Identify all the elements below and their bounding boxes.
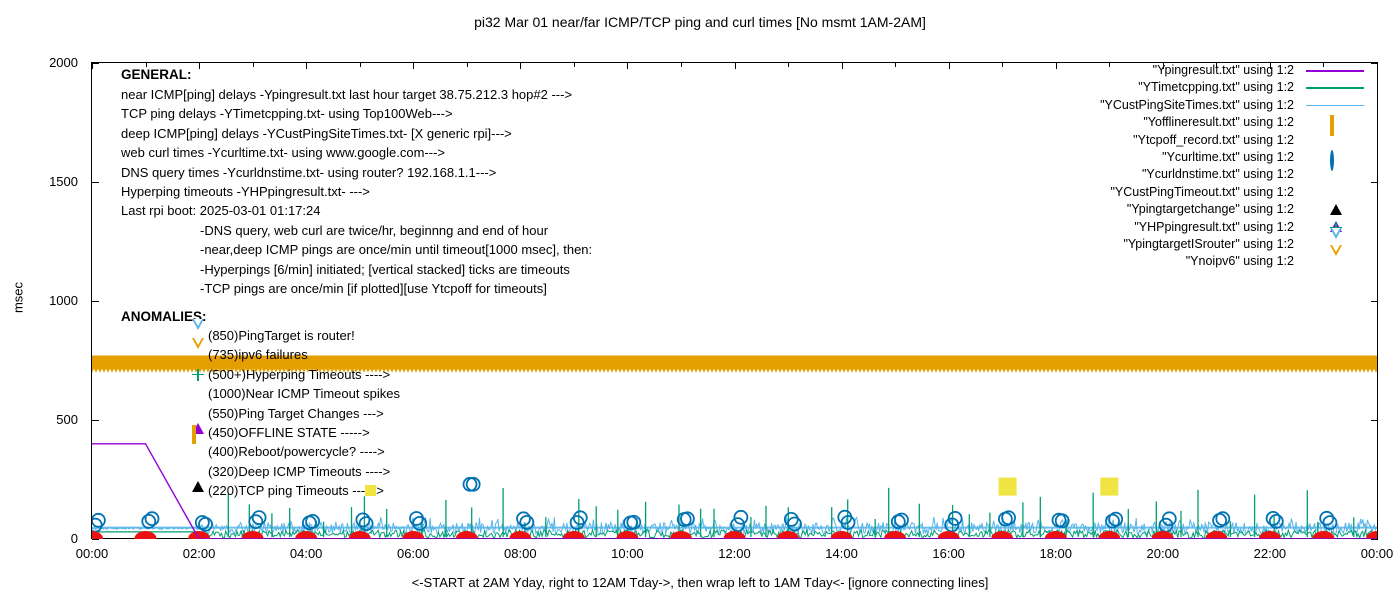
x-axis-caption: <-START at 2AM Yday, right to 12AM Tday-… — [0, 575, 1400, 590]
legend-row: "Ycurltime.txt" using 1:2 — [1000, 149, 1378, 166]
anomaly-label: (400)Reboot/powercycle? ----> — [208, 442, 385, 461]
legend-line-swatch — [1306, 105, 1364, 107]
x-tick-label: 20:00 — [1128, 546, 1198, 561]
anomaly-label: (735)ipv6 failures — [208, 345, 308, 364]
legend-key — [1302, 79, 1368, 96]
legend-label: "Ycurltime.txt" using 1:2 — [1162, 149, 1294, 166]
sq-open-icon — [192, 425, 196, 444]
anomaly-marker — [192, 446, 208, 459]
general-line: Hyperping timeouts -YHPpingresult.txt- -… — [121, 182, 572, 201]
anomaly-marker — [192, 427, 208, 440]
anomaly-label: (1000)Near ICMP Timeout spikes — [208, 384, 400, 403]
legend-key — [1302, 114, 1368, 131]
anomaly-marker — [192, 408, 208, 421]
y-tick-mark — [1371, 539, 1378, 540]
y-tick-label: 500 — [26, 413, 78, 426]
x-tick-label: 16:00 — [914, 546, 984, 561]
legend-row: "Ypingtargetchange" using 1:2 — [1000, 201, 1378, 218]
legend-label: "Ypingresult.txt" using 1:2 — [1153, 62, 1294, 79]
anomaly-marker — [192, 485, 208, 498]
x-tick-label: 10:00 — [592, 546, 662, 561]
x-tick-label: 00:00 — [1342, 546, 1400, 561]
legend-label: "YHPpingresult.txt" using 1:2 — [1134, 219, 1294, 236]
legend-label: "Ycurldnstime.txt" using 1:2 — [1142, 166, 1294, 183]
legend-key — [1302, 201, 1368, 218]
legend-key — [1302, 184, 1368, 201]
legend: "Ypingresult.txt" using 1:2"YTimetcpping… — [1000, 62, 1378, 271]
legend-key — [1302, 166, 1368, 183]
legend-label: "Yofflineresult.txt" using 1:2 — [1143, 114, 1294, 131]
y-tick-label: 1000 — [26, 294, 78, 307]
general-line: web curl times -Ycurltime.txt- using www… — [121, 143, 572, 162]
general-line: DNS query times -Ycurldnstime.txt- using… — [121, 163, 572, 182]
anomaly-label: (220)TCP ping Timeouts ---> — [208, 481, 384, 500]
tri-dn-orange-icon — [192, 338, 204, 364]
legend-label: "Ypingtargetchange" using 1:2 — [1127, 201, 1294, 218]
legend-label: "Ytcpoff_record.txt" using 1:2 — [1133, 132, 1294, 149]
y-tick-label: 1500 — [26, 175, 78, 188]
y-tick-label: 2000 — [26, 56, 78, 69]
legend-row: "YCustPingSiteTimes.txt" using 1:2 — [1000, 97, 1378, 114]
anomaly-marker — [192, 369, 208, 382]
legend-key — [1302, 253, 1368, 270]
general-heading: GENERAL: — [121, 65, 192, 84]
general-lines: near ICMP[ping] delays -Ypingresult.txt … — [121, 85, 572, 221]
anomaly-label: (500+)Hyperping Timeouts ----> — [208, 365, 390, 384]
legend-label: "YTimetcpping.txt" using 1:2 — [1138, 79, 1294, 96]
legend-row: "YpingtargetISrouter" using 1:2 — [1000, 236, 1378, 253]
anomaly-marker — [192, 466, 208, 479]
general-note: -DNS query, web curl are twice/hr, begin… — [200, 221, 592, 240]
legend-row: "YCustPingTimeout.txt" using 1:2 — [1000, 184, 1378, 201]
x-tick-label: 02:00 — [164, 546, 234, 561]
x-tick-label: 12:00 — [700, 546, 770, 561]
legend-label: "Ynoipv6" using 1:2 — [1186, 253, 1294, 270]
x-tick-label: 14:00 — [807, 546, 877, 561]
legend-label: "YpingtargetISrouter" using 1:2 — [1123, 236, 1294, 253]
anomaly-label: (550)Ping Target Changes ---> — [208, 404, 384, 423]
anomaly-label: (850)PingTarget is router! — [208, 326, 355, 345]
legend-line-swatch — [1306, 87, 1364, 89]
general-note: -Hyperpings [6/min] initiated; [vertical… — [200, 260, 592, 279]
legend-key — [1302, 62, 1368, 79]
anomaly-label: (320)Deep ICMP Timeouts ----> — [208, 462, 390, 481]
anomaly-label: (450)OFFLINE STATE -----> — [208, 423, 370, 442]
legend-row: "Ynoipv6" using 1:2 — [1000, 253, 1378, 270]
x-tick-label: 18:00 — [1021, 546, 1091, 561]
legend-key — [1302, 149, 1368, 166]
general-line: TCP ping delays -YTimetcpping.txt- using… — [121, 104, 572, 123]
legend-row: "YHPpingresult.txt" using 1:2 — [1000, 219, 1378, 236]
x-tick-label: 22:00 — [1235, 546, 1305, 561]
legend-line-swatch — [1306, 70, 1364, 72]
legend-marker-swatch — [1330, 256, 1342, 274]
legend-row: "Ycurldnstime.txt" using 1:2 — [1000, 166, 1378, 183]
general-line: deep ICMP[ping] delays -YCustPingSiteTim… — [121, 124, 572, 143]
anomaly-marker — [192, 349, 208, 362]
sq-fill-icon — [365, 485, 376, 496]
x-tick-label: 08:00 — [485, 546, 555, 561]
x-tick-label: 04:00 — [271, 546, 341, 561]
x-tick-label: 06:00 — [378, 546, 448, 561]
x-tick-label: 00:00 — [57, 546, 127, 561]
legend-row: "YTimetcpping.txt" using 1:2 — [1000, 79, 1378, 96]
legend-key — [1302, 132, 1368, 149]
y-tick-mark — [92, 539, 99, 540]
legend-label: "YCustPingSiteTimes.txt" using 1:2 — [1100, 97, 1294, 114]
tri-dn-orange-icon — [1330, 245, 1342, 273]
legend-row: "Ytcpoff_record.txt" using 1:2 — [1000, 132, 1378, 149]
general-notes: -DNS query, web curl are twice/hr, begin… — [200, 221, 592, 299]
y-tick-label: 0 — [26, 532, 78, 545]
legend-label: "YCustPingTimeout.txt" using 1:2 — [1111, 184, 1295, 201]
legend-row: "Yofflineresult.txt" using 1:2 — [1000, 114, 1378, 131]
anomaly-marker — [192, 388, 208, 401]
chart-title: pi32 Mar 01 near/far ICMP/TCP ping and c… — [0, 14, 1400, 30]
series-ytcpoff-record — [999, 478, 1119, 496]
legend-row: "Ypingresult.txt" using 1:2 — [1000, 62, 1378, 79]
general-note: -TCP pings are once/min [if plotted][use… — [200, 279, 592, 298]
chart-root: pi32 Mar 01 near/far ICMP/TCP ping and c… — [0, 0, 1400, 600]
general-note: -near,deep ICMP pings are once/min until… — [200, 240, 592, 259]
y-axis-label: msec — [11, 268, 26, 328]
legend-key — [1302, 97, 1368, 114]
general-line: near ICMP[ping] delays -Ypingresult.txt … — [121, 85, 572, 104]
general-line: Last rpi boot: 2025-03-01 01:17:24 — [121, 201, 572, 220]
